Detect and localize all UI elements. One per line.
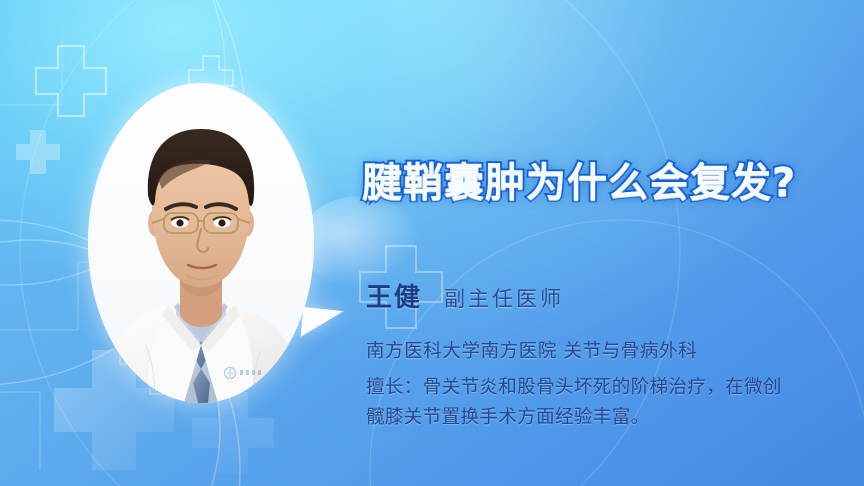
secondary-speech-bubble <box>300 196 420 288</box>
doctor-specialty: 擅长：骨关节炎和股骨头坏死的阶梯治疗，在微创髋膝关节置换手术方面经验丰富。 <box>366 373 791 433</box>
page-title: 腱鞘囊肿为什么会复发? <box>362 150 796 208</box>
doctor-info: 王健 副主任医师 南方医科大学南方医院 关节与骨病外科 擅长：骨关节炎和股骨头坏… <box>366 277 836 433</box>
cross-solid-small-left <box>16 130 60 174</box>
doctor-affiliation: 南方医科大学南方医院 关节与骨病外科 <box>366 337 836 363</box>
doctor-name: 王健 <box>366 277 422 314</box>
doctor-name-row: 王健 副主任医师 <box>366 277 836 314</box>
video-thumbnail-card: 腱鞘囊肿为什么会复发? 腱鞘囊肿为什么会复发? 王健 副主任医师 南方医科大学南… <box>0 0 864 486</box>
portrait-clip <box>88 83 314 403</box>
doctor-rank: 副主任医师 <box>444 283 564 313</box>
portrait-photo <box>88 83 314 403</box>
doctor-portrait <box>88 83 314 403</box>
cross-soft-bottom-center <box>192 392 274 474</box>
